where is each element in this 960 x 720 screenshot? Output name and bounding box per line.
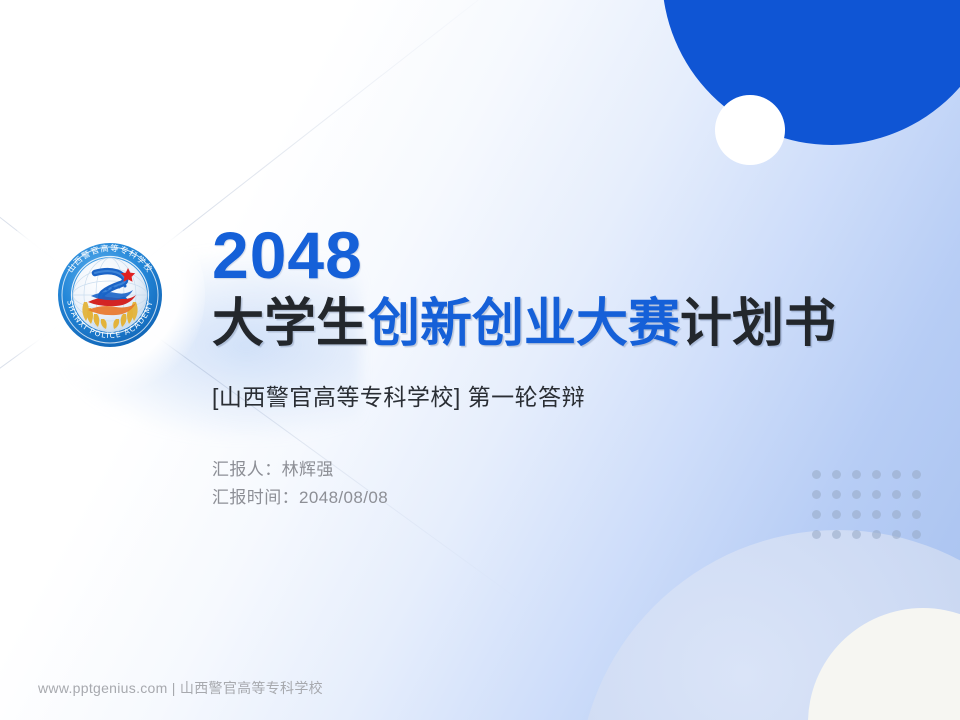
headline-part-2: 创新创业大赛	[368, 295, 680, 353]
year-heading: 2048	[212, 222, 912, 288]
headline-part-3: 计划书	[680, 295, 836, 353]
main-headline: 大学生创新创业大赛计划书	[212, 296, 912, 352]
blue-circle-decoration	[662, 0, 960, 145]
presenter-line: 汇报人：林辉强	[212, 456, 912, 484]
footer-credit: www.pptgenius.com | 山西警官高等专科学校	[38, 678, 323, 698]
white-dot-decoration	[715, 95, 785, 165]
cream-circle-decoration	[808, 608, 960, 720]
presentation-title-slide: 山西警官高等专科学校 SHANXI POLICE ACADEMY	[0, 0, 960, 720]
date-line: 汇报时间：2048/08/08	[212, 484, 912, 512]
subtitle-text: [山西警官高等专科学校] 第一轮答辩	[212, 378, 912, 412]
title-content-block: 2048 大学生创新创业大赛计划书 [山西警官高等专科学校] 第一轮答辩 汇报人…	[212, 222, 912, 511]
headline-part-1: 大学生	[212, 295, 368, 353]
presentation-meta: 汇报人：林辉强 汇报时间：2048/08/08	[212, 456, 912, 511]
soft-blue-circle-decoration	[578, 530, 960, 720]
school-emblem-logo: 山西警官高等专科学校 SHANXI POLICE ACADEMY	[57, 242, 163, 348]
